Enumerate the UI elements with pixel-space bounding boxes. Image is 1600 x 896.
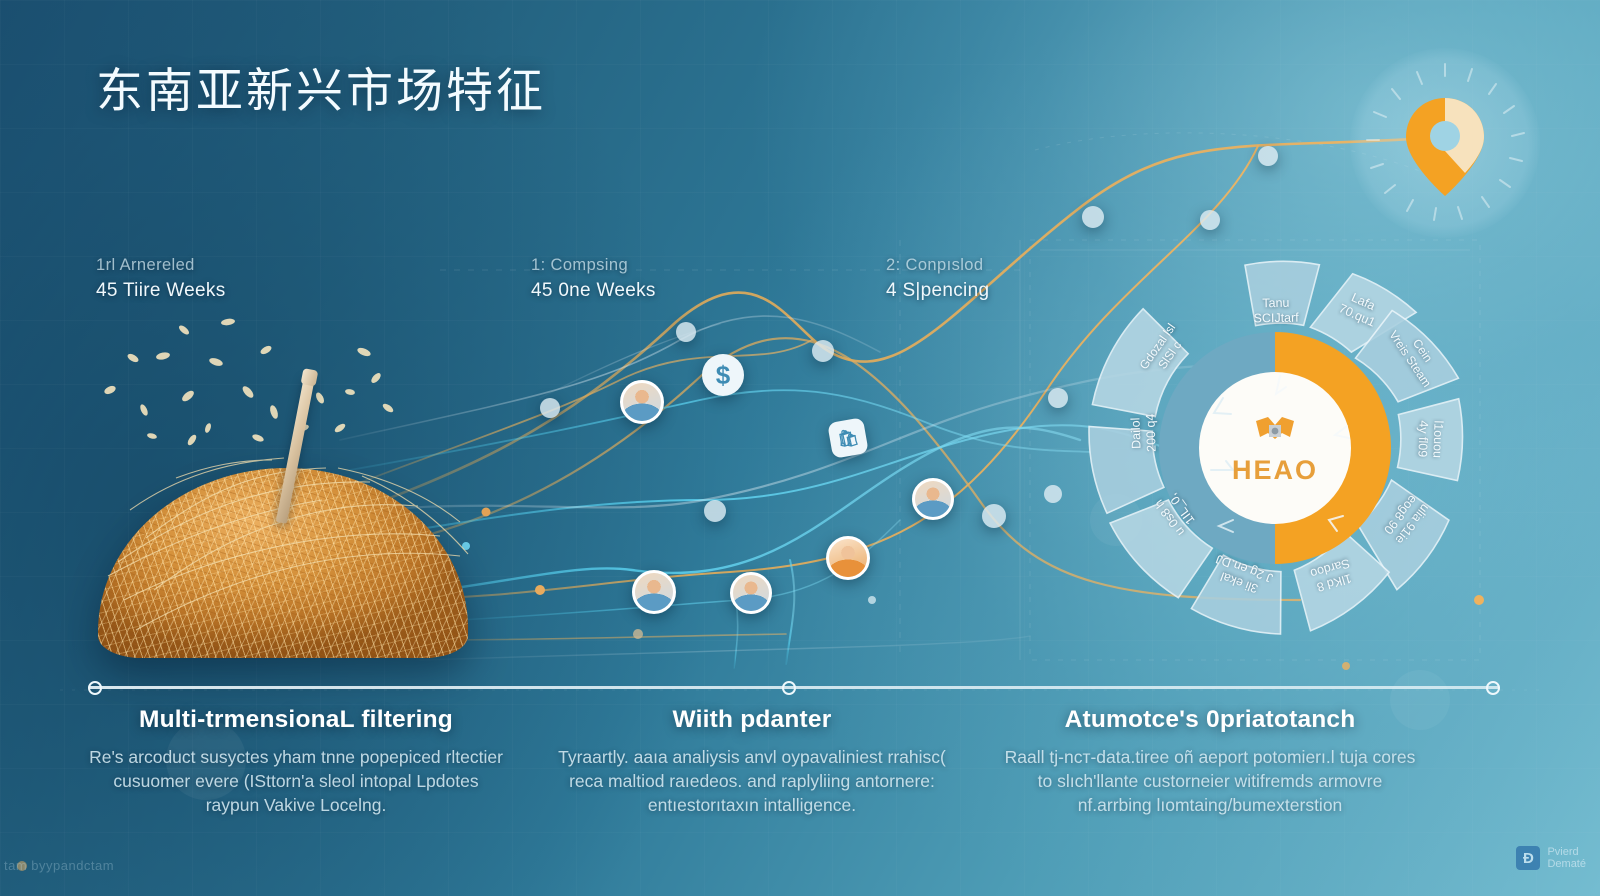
caption-3: Atumotce's 0priatotanch Raall tj-ncт-dat… <box>1000 706 1420 817</box>
node-hub-3 <box>540 398 560 418</box>
gauge-dial <box>1350 48 1540 238</box>
node-avatar-person-2 <box>826 536 870 580</box>
caption-1-title: Multi-trmensionaL filtering <box>86 706 506 734</box>
caption-3-title: Atumotce's 0priatotanch <box>1000 706 1420 734</box>
node-dollar: $ <box>702 354 744 396</box>
node-hub-6 <box>1048 388 1068 408</box>
logo-line-2: Dematé <box>1547 858 1586 870</box>
node-hub-8 <box>1200 210 1220 230</box>
stage-label-3: 2: Conpıslod 4 S|pencing <box>886 256 989 302</box>
wheel-segment-3: Cein Vreis Steam <box>1380 311 1453 399</box>
caption-1: Multi-trmensionaL filtering Re's arcoduc… <box>86 706 506 817</box>
node-hub-2 <box>812 340 834 362</box>
timeline-marker-1[interactable] <box>88 681 102 695</box>
wheel-segment-5: ulia 91ie eog8 90 <box>1368 476 1445 562</box>
avatar <box>829 539 867 577</box>
caption-2: Wiith pdanter Tyraartly. aaıa analiysis … <box>542 706 962 817</box>
stage-1-line2: 45 Tiire Weeks <box>96 280 226 302</box>
avatar <box>623 383 661 421</box>
node-hub-4 <box>704 500 726 522</box>
radial-segment-wheel: Tanu SCIJtarf Lafa 70.qu1 Cein Vreis Ste… <box>1075 248 1475 648</box>
shopping-bag-icon: 🛍 <box>836 428 860 448</box>
logo-text: Pvierd Dematé <box>1547 846 1586 870</box>
logo-mark-icon: Ɖ <box>1516 846 1540 870</box>
timeline-marker-3[interactable] <box>1486 681 1500 695</box>
stage-label-2: 1: Compsing 45 0ne Weeks <box>531 256 656 302</box>
wheel-segment-7: 3li ekal J 2g en.DJ <box>1196 546 1287 604</box>
location-gauge <box>1350 48 1540 238</box>
wheel-hub-content: HEAO <box>1199 372 1351 524</box>
haystack-illustration <box>88 300 488 680</box>
node-shopping-bag: 🛍 <box>827 417 869 459</box>
node-avatar-person-1 <box>912 478 954 520</box>
caption-2-title: Wiith pdanter <box>542 706 962 734</box>
avatar <box>635 573 673 611</box>
wheel-hub-label: HEAO <box>1232 455 1318 486</box>
handshake-icon <box>1252 411 1298 451</box>
stage-label-1: 1rl Arnereled 45 Tiire Weeks <box>96 256 226 302</box>
node-hub-1 <box>676 322 696 342</box>
wheel-segment-4: l1ouou 4y fl09 <box>1414 396 1447 483</box>
infographic-canvas: 东南亚新兴市场特征 <box>0 0 1600 896</box>
wheel-segment-10: Gdozal lsl SlSl c <box>1127 307 1201 395</box>
node-hub-9 <box>1258 146 1278 166</box>
page-title: 东南亚新兴市场特征 <box>96 52 546 121</box>
timeline-marker-2[interactable] <box>782 681 796 695</box>
logo-line-1: Pvierd <box>1547 846 1586 858</box>
wheel-segment-6: 1lKd 8 Sardoo <box>1287 549 1378 602</box>
stage-2-line2: 45 0ne Weeks <box>531 280 656 302</box>
caption-3-body: Raall tj-ncт-data.tiree oñ aeport potomi… <box>1000 745 1420 817</box>
stage-2-line1: 1: Compsing <box>531 256 656 275</box>
caption-2-body: Tyraartly. aaıa analiysis anvl oypavalin… <box>542 745 962 817</box>
node-hub-7 <box>1082 206 1104 228</box>
stage-3-line1: 2: Conpıslod <box>886 256 989 275</box>
wheel-segment-9: Dailol 200 q4 <box>1128 390 1161 477</box>
stage-3-line2: 4 S|pencing <box>886 280 989 302</box>
node-hub-5 <box>982 504 1006 528</box>
node-avatar-person-3 <box>632 570 676 614</box>
caption-1-body: Re's arcoduct susyctes yham tnne popepic… <box>86 745 506 817</box>
watermark-text: tam byypandctam <box>4 858 114 873</box>
dollar-icon: $ <box>716 362 730 388</box>
brand-logo: Ɖ Pvierd Dematé <box>1516 846 1586 870</box>
node-avatar-person-4 <box>730 572 772 614</box>
timeline <box>88 681 1500 695</box>
avatar <box>733 575 769 611</box>
wheel-segment-1: Tanu SCIJtarf <box>1233 295 1320 326</box>
stage-1-line1: 1rl Arnereled <box>96 256 226 275</box>
avatar <box>915 481 951 517</box>
node-avatar-team <box>620 380 664 424</box>
